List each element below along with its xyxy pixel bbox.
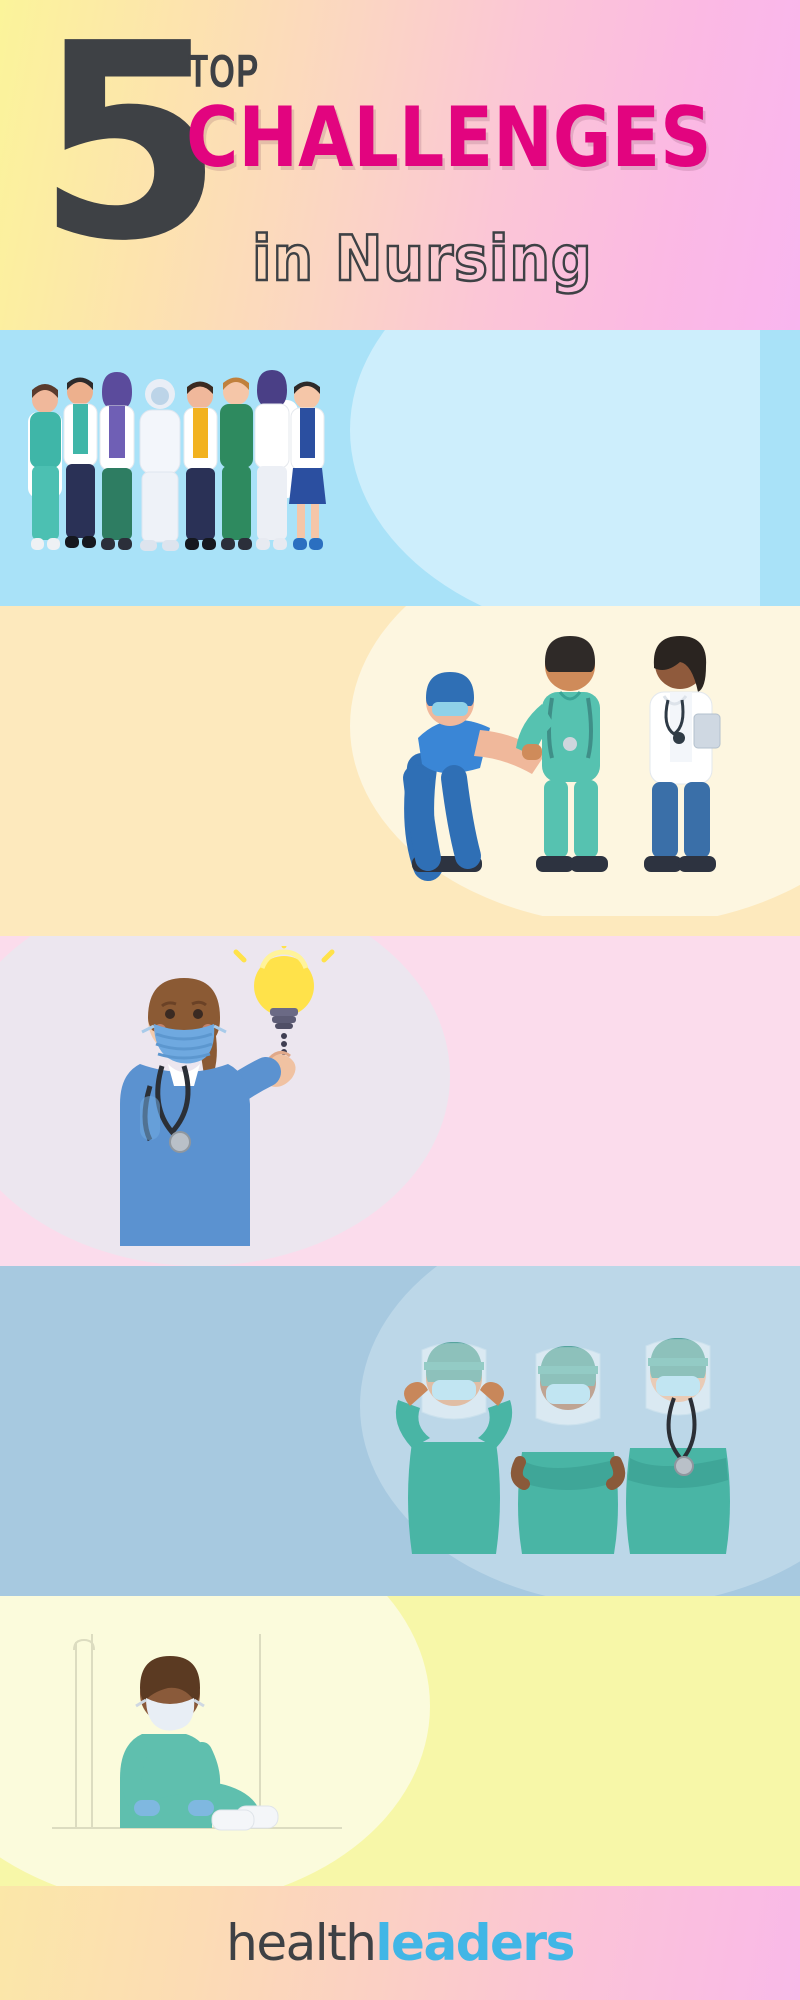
illustration-group-of-nurses: [14, 354, 334, 574]
brand-logo-part2: leaders: [375, 1914, 573, 1972]
illustration-nurse-with-lightbulb: [84, 946, 354, 1246]
illustration-staff-assisting: [392, 618, 782, 918]
illustration-nurses-face-shields: [386, 1302, 786, 1582]
section-2: 2 Stabilization of Support Roles As nurs…: [0, 606, 800, 936]
infographic-page: 5 TOP CHALLENGES in Nursing: [0, 0, 800, 2000]
brand-logo: healthleaders: [226, 1914, 574, 1972]
section-1: 1 Supply of Nurses CNOs must work to sho…: [0, 330, 800, 606]
footer-logo-bar: healthleaders: [0, 1886, 800, 2000]
section-5: 5 Burnout CNOs should be open and talk a…: [0, 1596, 800, 1886]
illustration-nurse-sitting-on-floor: [30, 1614, 360, 1864]
section-4: 4 Frontline Nursing Leaders Retention is…: [0, 1266, 800, 1596]
page-subtitle: in Nursing: [252, 228, 593, 290]
decorative-blob: [330, 330, 760, 606]
brand-logo-part1: health: [226, 1914, 375, 1972]
header-top-word: TOP: [188, 48, 260, 94]
section-3: 3 Innovation CNOs are responsible for co…: [0, 936, 800, 1266]
page-title: CHALLENGES: [186, 96, 712, 179]
header-banner: 5 TOP CHALLENGES in Nursing: [0, 0, 800, 330]
